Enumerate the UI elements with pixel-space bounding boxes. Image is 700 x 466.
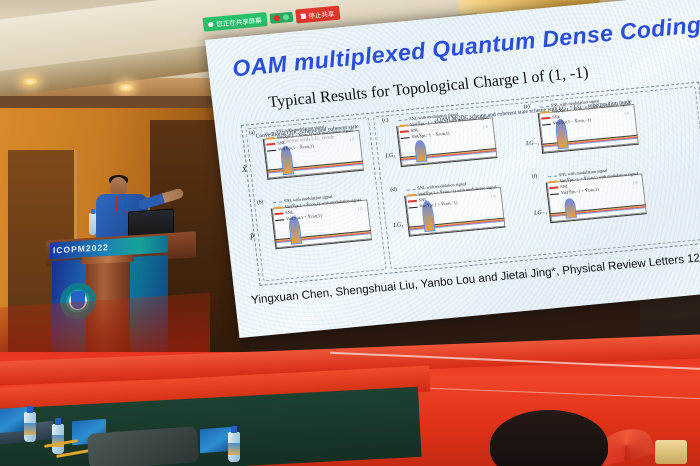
mode-label: LG₋₁ xyxy=(534,209,548,217)
toolbar-icon-group[interactable] xyxy=(269,12,293,24)
slide-surface: OAM multiplexed Quantum Dense Coding Typ… xyxy=(205,0,700,338)
legend-swatch xyxy=(265,131,274,133)
water-bottle xyxy=(24,412,36,442)
legend-swatch xyxy=(540,105,549,107)
legend-swatch xyxy=(267,149,276,151)
legend-swatch xyxy=(541,111,550,113)
plot-panel-label-b: (b) xyxy=(257,199,264,206)
legend-swatch xyxy=(407,194,416,196)
plot-panel-label-d: (d) xyxy=(390,187,397,194)
stop-share-label: 停止共享 xyxy=(308,8,335,20)
water-bottle xyxy=(228,432,240,462)
paper-cup xyxy=(655,440,687,464)
mic-icon[interactable] xyxy=(273,15,280,21)
name-card-text xyxy=(203,438,204,443)
sharing-status-label: 您正在共享屏幕 xyxy=(216,15,262,29)
water-bottle xyxy=(52,424,64,454)
legend-swatch xyxy=(409,206,418,208)
legend-swatch xyxy=(274,207,283,209)
projection-screen: 您正在共享屏幕 停止共享 正在发言 OAM multiplexed Quantu… xyxy=(205,0,700,368)
share-dot-icon xyxy=(208,21,214,26)
legend-swatch xyxy=(549,187,558,189)
legend-swatch xyxy=(408,200,417,202)
legend-swatch xyxy=(549,181,558,183)
plot-panel-label-c: (c) xyxy=(382,117,389,124)
legend-swatch xyxy=(274,213,283,215)
legend-swatch xyxy=(406,188,415,190)
camera-icon[interactable] xyxy=(282,14,289,20)
plot-panel-label-f: (f) xyxy=(532,173,538,179)
plot-panel-label-a: (a) xyxy=(249,130,256,137)
conference-photo: 您正在共享屏幕 停止共享 正在发言 OAM multiplexed Quantu… xyxy=(0,0,700,466)
stop-square-icon xyxy=(300,13,306,18)
mode-label: LG₋₁ xyxy=(526,139,540,147)
name-card-text xyxy=(75,430,76,435)
laptop-bag xyxy=(87,426,199,466)
legend-swatch xyxy=(548,175,557,177)
legend-swatch xyxy=(273,201,282,203)
legend-swatch xyxy=(550,193,559,195)
legend-swatch xyxy=(541,117,550,119)
quadrature-label-p: P̂ xyxy=(249,232,255,241)
podium-label: ICOPM2022 xyxy=(53,242,109,255)
legend-swatch xyxy=(399,125,408,127)
downlight-icon xyxy=(118,83,134,92)
mode-label: LG₁ xyxy=(385,153,395,160)
mode-label: LG₁ xyxy=(393,222,403,229)
legend-swatch xyxy=(401,137,410,139)
legend-swatch xyxy=(275,219,284,221)
downlight-icon xyxy=(22,77,38,86)
legend-swatch xyxy=(266,143,275,145)
legend-swatch xyxy=(400,131,409,133)
podium-water-bottle xyxy=(89,213,96,235)
plot-panel-label-e: (e) xyxy=(524,104,531,111)
legend-swatch xyxy=(542,123,551,125)
legend-swatch xyxy=(266,137,275,139)
legend-swatch xyxy=(398,119,407,121)
quadrature-label-x: X̂ xyxy=(242,165,248,174)
speaker-lanyard xyxy=(116,196,128,214)
